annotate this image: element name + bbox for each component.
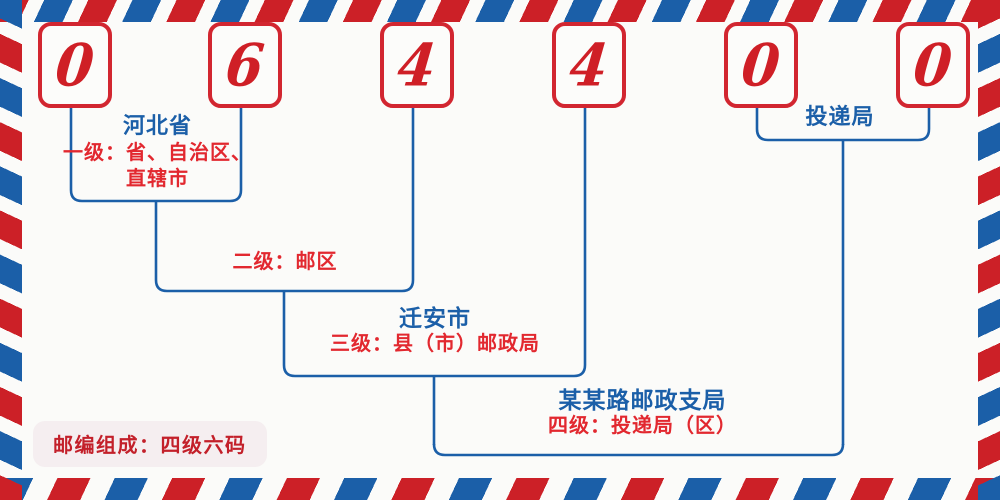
postcode-diagram: 0 6 4 4 0 0 河北省 一级：省、自治区、直辖市 二级：邮区 迁安市 三… [0, 0, 1000, 500]
airmail-border-bottom [0, 478, 1000, 500]
level4-title: 某某路邮政支局 [470, 387, 815, 414]
digit-glyph-6: 0 [911, 36, 955, 94]
level3-label: 迁安市 三级：县（市）邮政局 [290, 305, 580, 356]
postcode-digit-box-6[interactable]: 0 [896, 22, 970, 108]
digit-glyph-4: 4 [567, 36, 611, 94]
digit-glyph-3: 4 [395, 36, 439, 94]
level3-title: 迁安市 [290, 305, 580, 332]
level4-subtitle: 四级：投递局（区） [470, 414, 815, 438]
postcode-composition-badge: 邮编组成：四级六码 [33, 421, 267, 467]
postcode-digit-box-5[interactable]: 0 [724, 22, 798, 108]
airmail-border-right [978, 0, 1000, 500]
level4-label: 某某路邮政支局 四级：投递局（区） [470, 387, 815, 438]
level1-label: 河北省 一级：省、自治区、直辖市 [60, 113, 255, 191]
level3-subtitle: 三级：县（市）邮政局 [290, 332, 580, 356]
postcode-digit-box-4[interactable]: 4 [552, 22, 626, 108]
digit-glyph-2: 6 [223, 36, 267, 94]
level1-title: 河北省 [60, 113, 255, 139]
airmail-border-left [0, 0, 22, 500]
level2-label: 二级：邮区 [170, 250, 400, 274]
postcode-digit-box-3[interactable]: 4 [380, 22, 454, 108]
postcode-composition-text: 邮编组成：四级六码 [53, 435, 247, 457]
level1-subtitle: 一级：省、自治区、直辖市 [60, 139, 255, 191]
postcode-digit-box-1[interactable]: 0 [38, 22, 112, 108]
digit-glyph-5: 0 [739, 36, 783, 94]
postcode-digit-box-2[interactable]: 6 [208, 22, 282, 108]
airmail-border-top [0, 0, 1000, 22]
level2-subtitle: 二级：邮区 [170, 250, 400, 274]
digit-glyph-1: 0 [53, 36, 97, 94]
